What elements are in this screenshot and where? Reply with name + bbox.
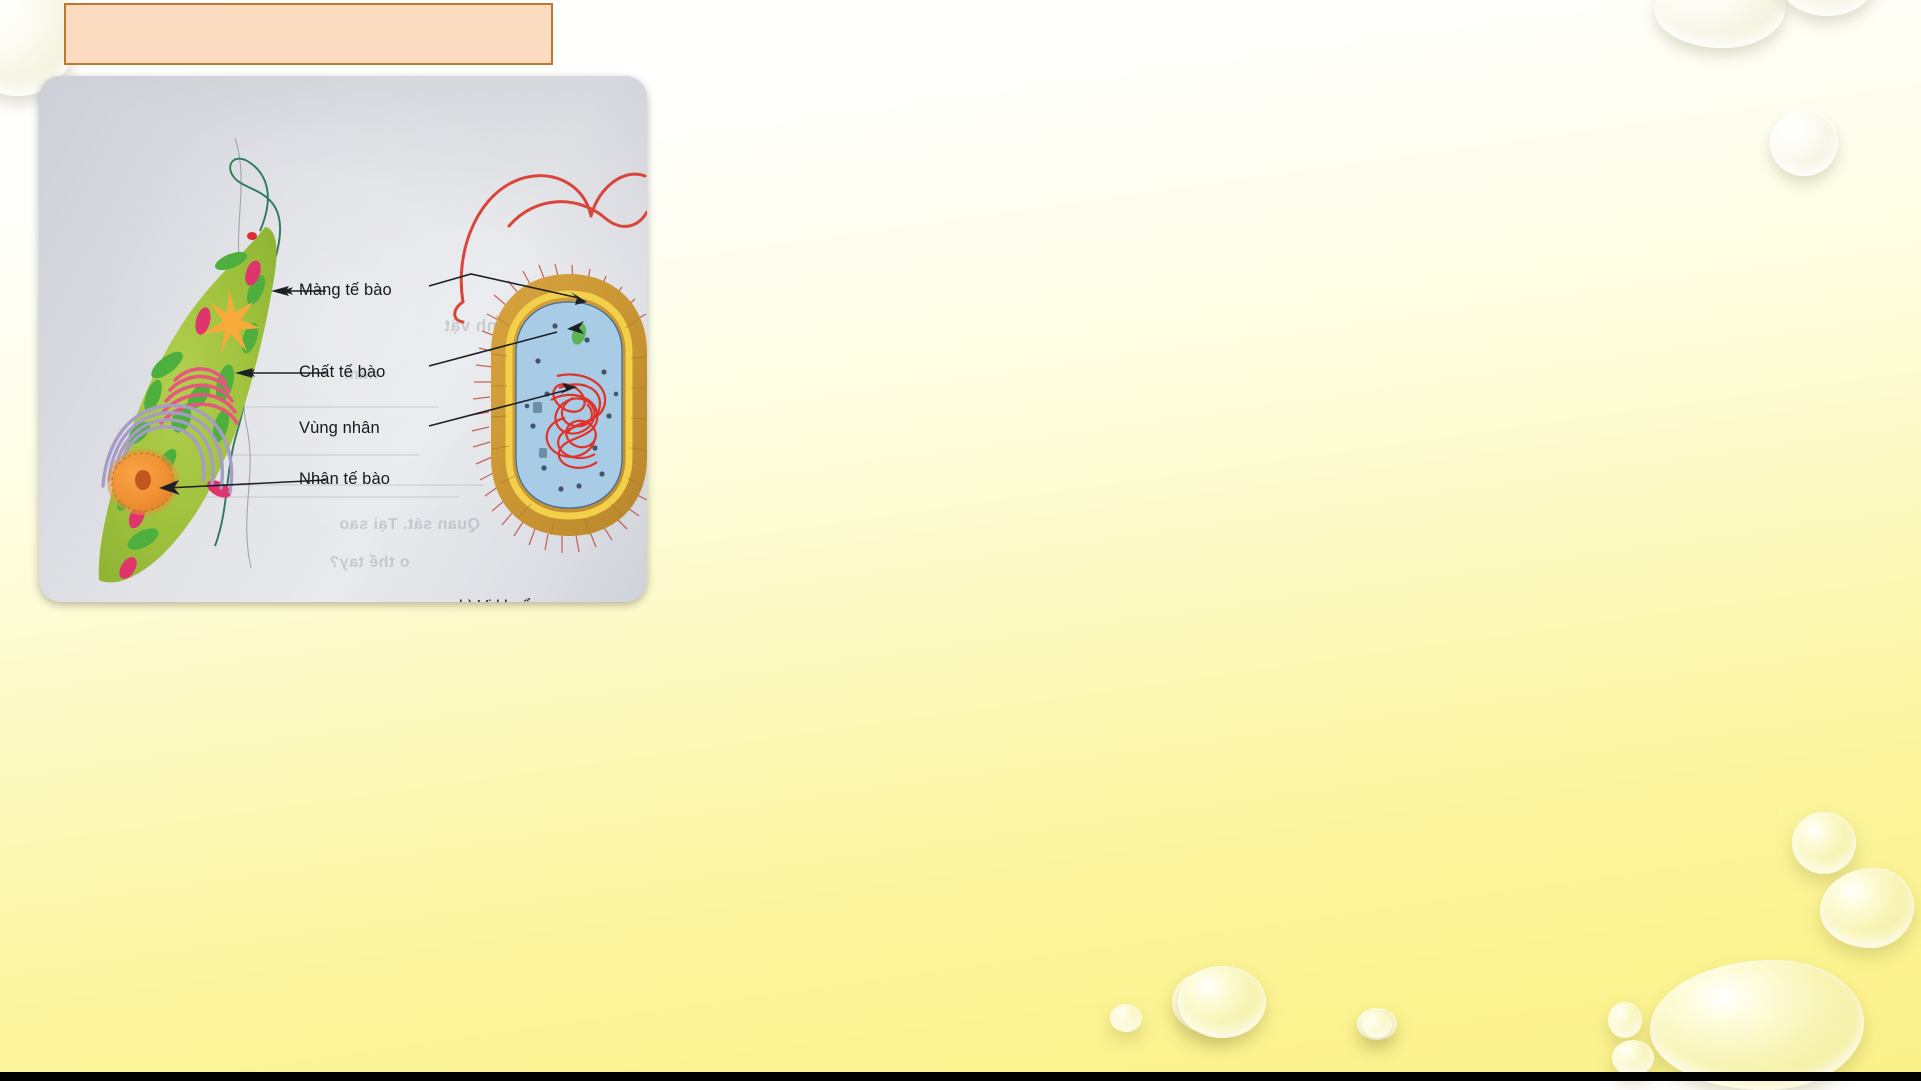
slide-canvas: o sinh vật nấm Quan sát. Tại sao o thể t… bbox=[0, 0, 1921, 1081]
label-nhan-te-bao: Nhân tế bào bbox=[299, 470, 390, 489]
eyespot bbox=[247, 232, 257, 240]
droplet-decoration bbox=[1778, 0, 1876, 16]
label-chat-te-bao: Chất tế bào bbox=[299, 363, 385, 382]
nucleus bbox=[107, 449, 179, 515]
droplet-decoration bbox=[1612, 1040, 1654, 1076]
panel-a-label: a) Trùng roi bbox=[124, 601, 206, 602]
droplet-decoration bbox=[1110, 1004, 1142, 1032]
label-mang-te-bao: Màng tế bào bbox=[299, 281, 392, 300]
orange-text-box[interactable] bbox=[64, 3, 553, 65]
droplet-decoration bbox=[1178, 966, 1266, 1038]
droplet-decoration bbox=[1780, 810, 1782, 812]
droplet-decoration bbox=[1655, 0, 1785, 48]
droplet-decoration bbox=[1820, 868, 1914, 948]
droplet-decoration bbox=[1770, 110, 1838, 176]
panel-b-label: b) Vi khuẩn bbox=[459, 598, 540, 602]
textbook-photo[interactable]: o sinh vật nấm Quan sát. Tại sao o thể t… bbox=[39, 76, 647, 602]
bacterium-cell bbox=[455, 174, 647, 553]
droplet-decoration bbox=[1650, 960, 1864, 1090]
nucleolus bbox=[135, 470, 151, 490]
label-vung-nhan: Vùng nhân bbox=[299, 419, 380, 438]
droplet-decoration bbox=[1362, 1012, 1392, 1038]
droplet-decoration bbox=[1798, 820, 1800, 822]
droplet-decoration bbox=[1792, 812, 1856, 874]
cytoplasm bbox=[516, 302, 622, 508]
droplet-decoration bbox=[1176, 975, 1178, 977]
cell-illustration bbox=[39, 76, 647, 602]
euglena-cell bbox=[99, 159, 280, 583]
droplet-decoration bbox=[1608, 1002, 1642, 1038]
photo-paper-background: o sinh vật nấm Quan sát. Tại sao o thể t… bbox=[39, 76, 647, 602]
